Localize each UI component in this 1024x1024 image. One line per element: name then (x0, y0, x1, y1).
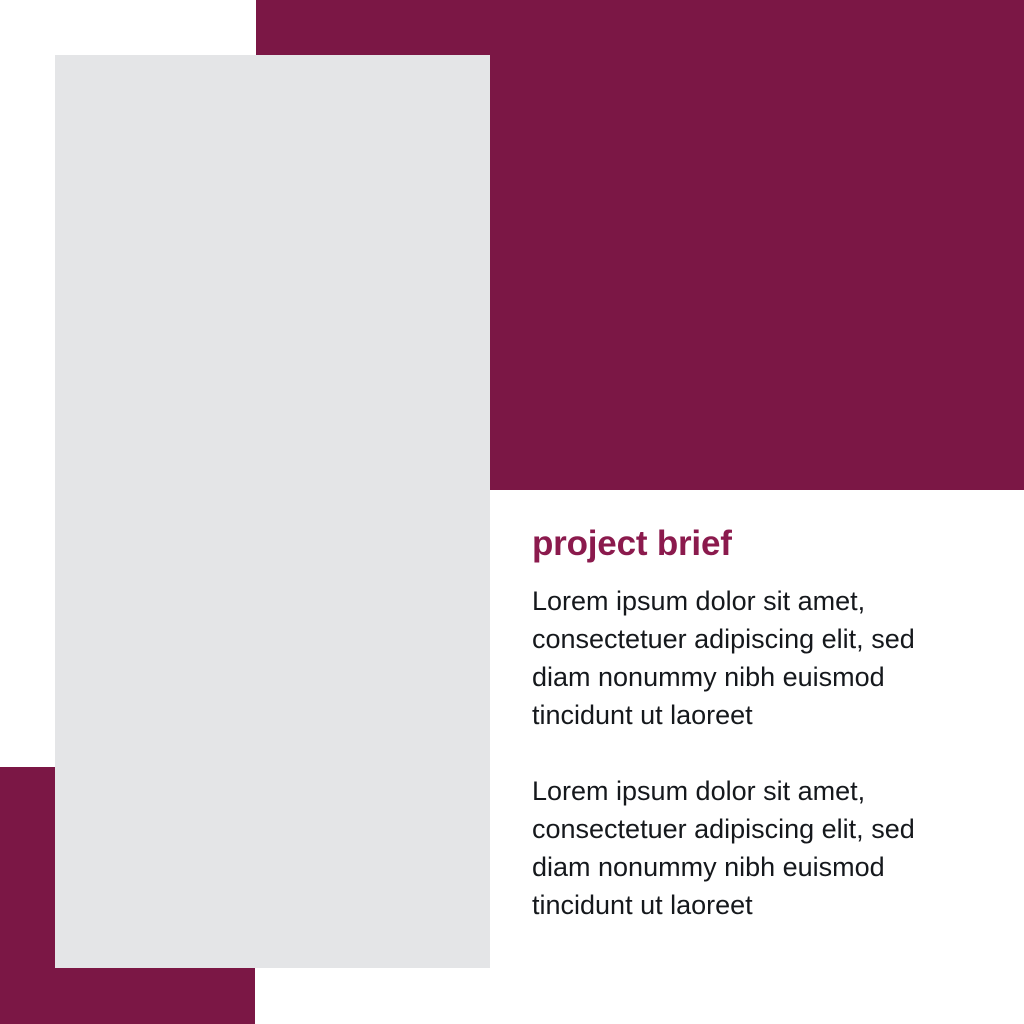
slide-canvas: project brief Lorem ipsum dolor sit amet… (0, 0, 1024, 1024)
page-title: project brief (532, 524, 980, 564)
body-paragraph-2: Lorem ipsum dolor sit amet, consectetuer… (532, 772, 980, 924)
body-paragraph-1: Lorem ipsum dolor sit amet, consectetuer… (532, 582, 980, 734)
text-column: project brief Lorem ipsum dolor sit amet… (532, 524, 980, 924)
image-placeholder-panel (55, 55, 490, 968)
